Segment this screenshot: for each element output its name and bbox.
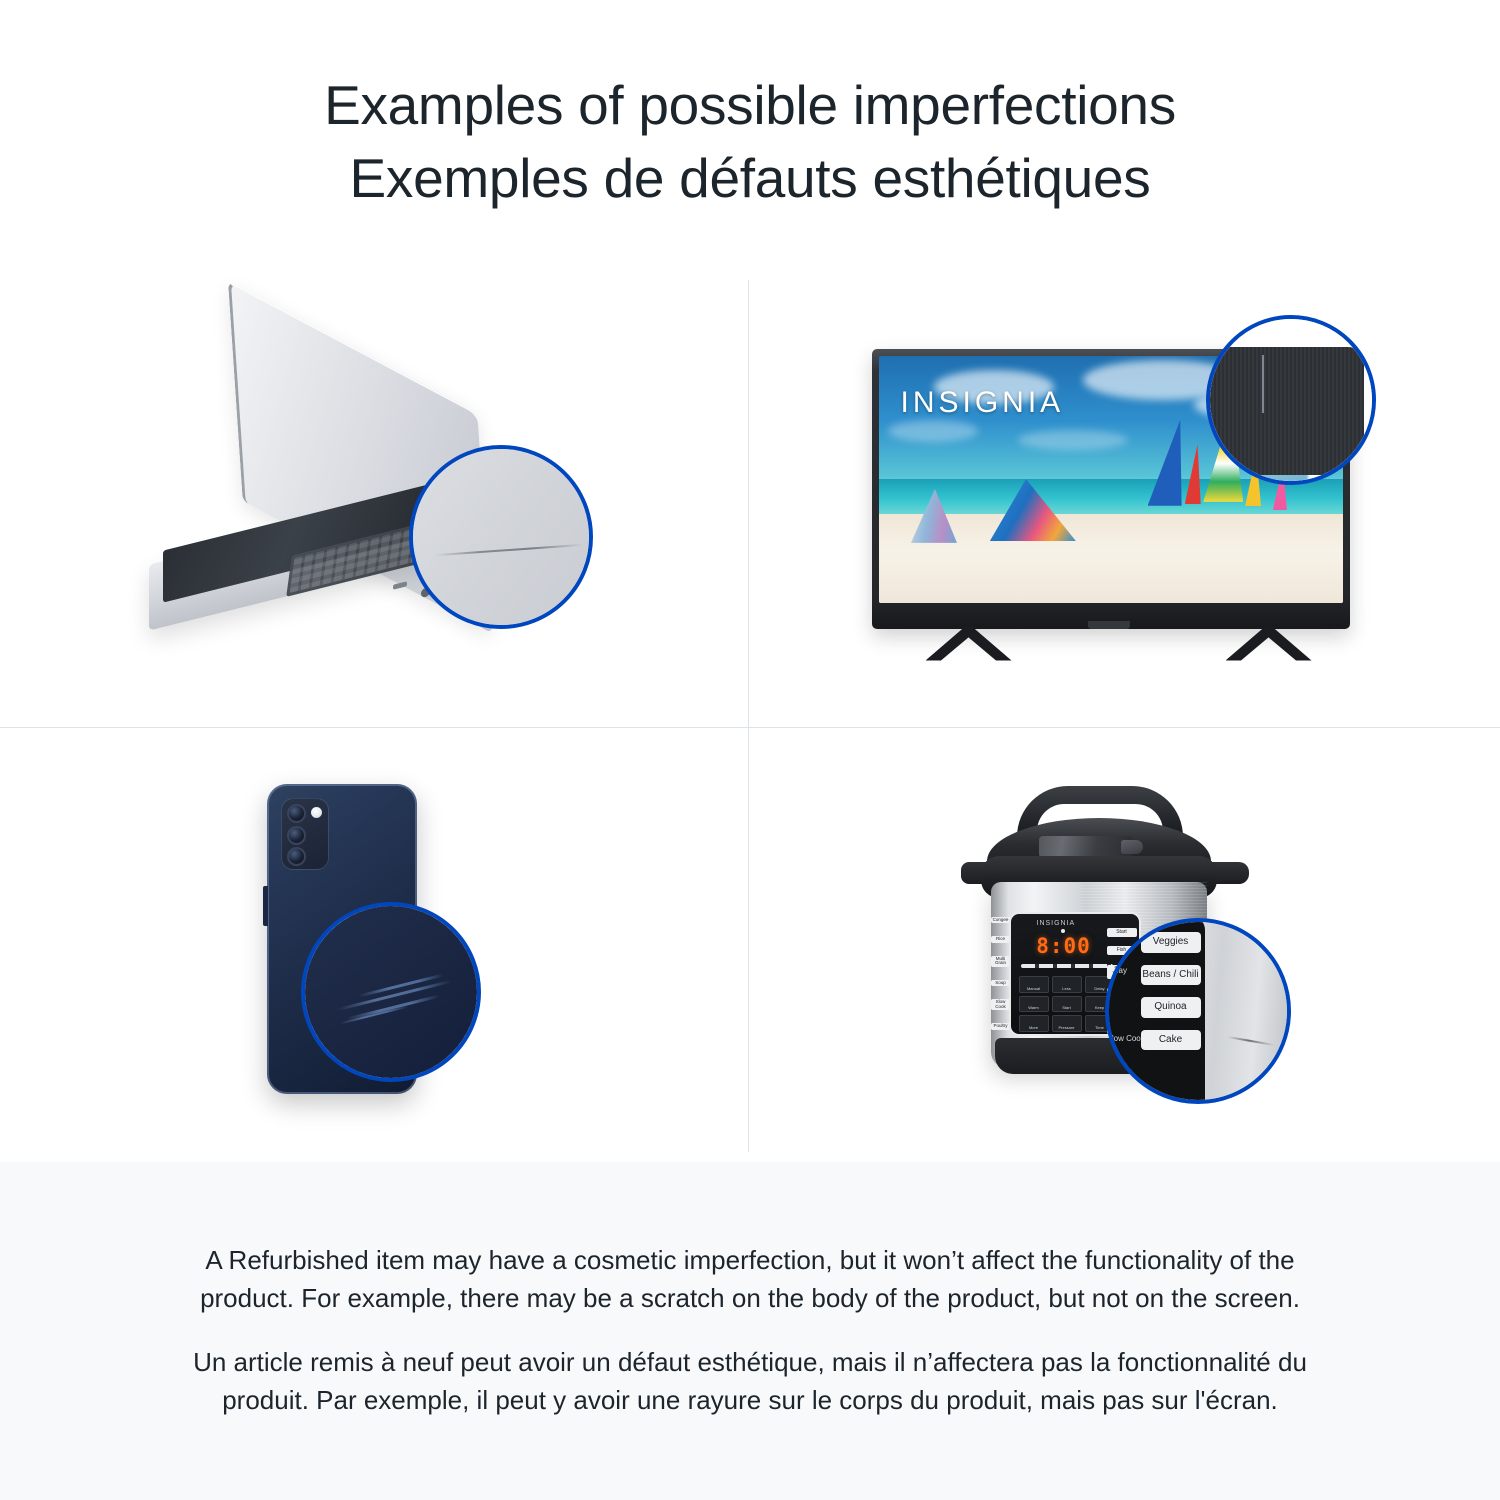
television-stand-leg-left (926, 627, 1012, 661)
cooker-button[interactable]: Manual (1019, 976, 1049, 993)
cooker-button[interactable]: Veggies (1141, 932, 1201, 953)
cooker-button[interactable]: More (1019, 1015, 1049, 1032)
cooker-button[interactable]: Pressure (1052, 1015, 1082, 1032)
cooker-timer-display: 8:00 (1033, 934, 1095, 958)
description-footer: A Refurbished item may have a cosmetic i… (0, 1162, 1500, 1500)
television-scuff-imperfection (1262, 355, 1264, 413)
description-paragraph-english: A Refurbished item may have a cosmetic i… (185, 1242, 1315, 1318)
steam-release-valve-icon (1121, 840, 1143, 854)
cooker-button[interactable]: Multi Grain (991, 956, 1011, 967)
camera-flash-icon (311, 807, 322, 818)
cooker-button[interactable]: Soup (991, 980, 1011, 987)
screen-cloud (888, 420, 978, 442)
cooker-magnified-button-column: Veggies Beans / Chili Quinoa Cake (1141, 926, 1201, 1104)
television-illustration: INSIGNIA (860, 315, 1390, 675)
cooker-button[interactable]: Rice (991, 936, 1011, 943)
screen-sailboat (1185, 444, 1201, 504)
cooker-button[interactable]: Cake (1141, 1030, 1201, 1051)
cooker-button[interactable]: Warm (1019, 996, 1049, 1013)
television-magnified-bezel-corner (1206, 347, 1364, 475)
refurbished-imperfections-infographic: Examples of possible imperfections Exemp… (0, 0, 1500, 1500)
smartphone-magnified-surface (305, 906, 477, 1078)
cooker-button[interactable]: Start (1052, 996, 1082, 1013)
pressure-cooker-illustration: Congee Rice Multi Grain Soup Slow Cook P… (955, 770, 1295, 1120)
television-magnifier-circle (1206, 315, 1376, 485)
smartphone-magnifier-circle (301, 902, 481, 1082)
example-cell-pressure-cooker: Congee Rice Multi Grain Soup Slow Cook P… (749, 728, 1500, 1162)
laptop-illustration (139, 345, 609, 645)
cooker-button[interactable]: Beans / Chili (1141, 965, 1201, 986)
cooker-button[interactable]: Less (1052, 976, 1082, 993)
page-title-french: Exemples de défauts esthétiques (350, 142, 1151, 215)
cooker-center-button-grid: Manual Less Delay Warm Start Keep More P… (1019, 976, 1115, 1032)
screen-sailboat (1148, 420, 1182, 506)
example-cell-smartphone (0, 728, 748, 1162)
smartphone-side-button (263, 886, 268, 926)
camera-lens-icon (287, 826, 306, 845)
page-header: Examples of possible imperfections Exemp… (0, 0, 1500, 262)
laptop-magnifier-circle (409, 445, 593, 629)
smartphone-camera-module (281, 798, 329, 870)
cooker-button[interactable]: Congee (991, 917, 1011, 924)
screen-cloud (1018, 430, 1128, 450)
pressure-cooker-left-button-column: Congee Rice Multi Grain Soup Slow Cook P… (991, 910, 1011, 1036)
pressure-cooker-magnifier-circle: Delay Slow Cook Veggies Beans / Chili Qu… (1105, 918, 1291, 1104)
cooker-brand-label: INSIGNIA (1037, 920, 1076, 927)
camera-lens-icon (287, 847, 306, 866)
cooker-button[interactable]: Quinoa (1141, 997, 1201, 1018)
cooker-progress-bar (1021, 964, 1113, 968)
television-logo-bump (1088, 621, 1130, 629)
pressure-cooker-lid-vent (1039, 836, 1133, 858)
cooker-button[interactable]: Poultry (991, 1023, 1011, 1030)
television-stand-leg-right (1226, 627, 1312, 661)
description-paragraph-french: Un article remis à neuf peut avoir un dé… (185, 1344, 1315, 1420)
page-title-english: Examples of possible imperfections (324, 69, 1176, 142)
screen-sea (879, 479, 1343, 516)
television-brand-label: INSIGNIA (901, 386, 1065, 420)
example-cell-television: INSIGNIA (749, 262, 1500, 727)
cooker-status-indicator (1061, 929, 1065, 933)
camera-lens-icon (287, 804, 306, 823)
example-cell-laptop (0, 262, 748, 727)
examples-grid: INSIGNIA (0, 262, 1500, 1162)
cooker-magnified-side-button[interactable]: Delay (1107, 966, 1137, 975)
smartphone-illustration (209, 770, 539, 1120)
laptop-magnified-surface (413, 449, 589, 625)
cooker-button[interactable]: Slow Cook (991, 999, 1011, 1010)
